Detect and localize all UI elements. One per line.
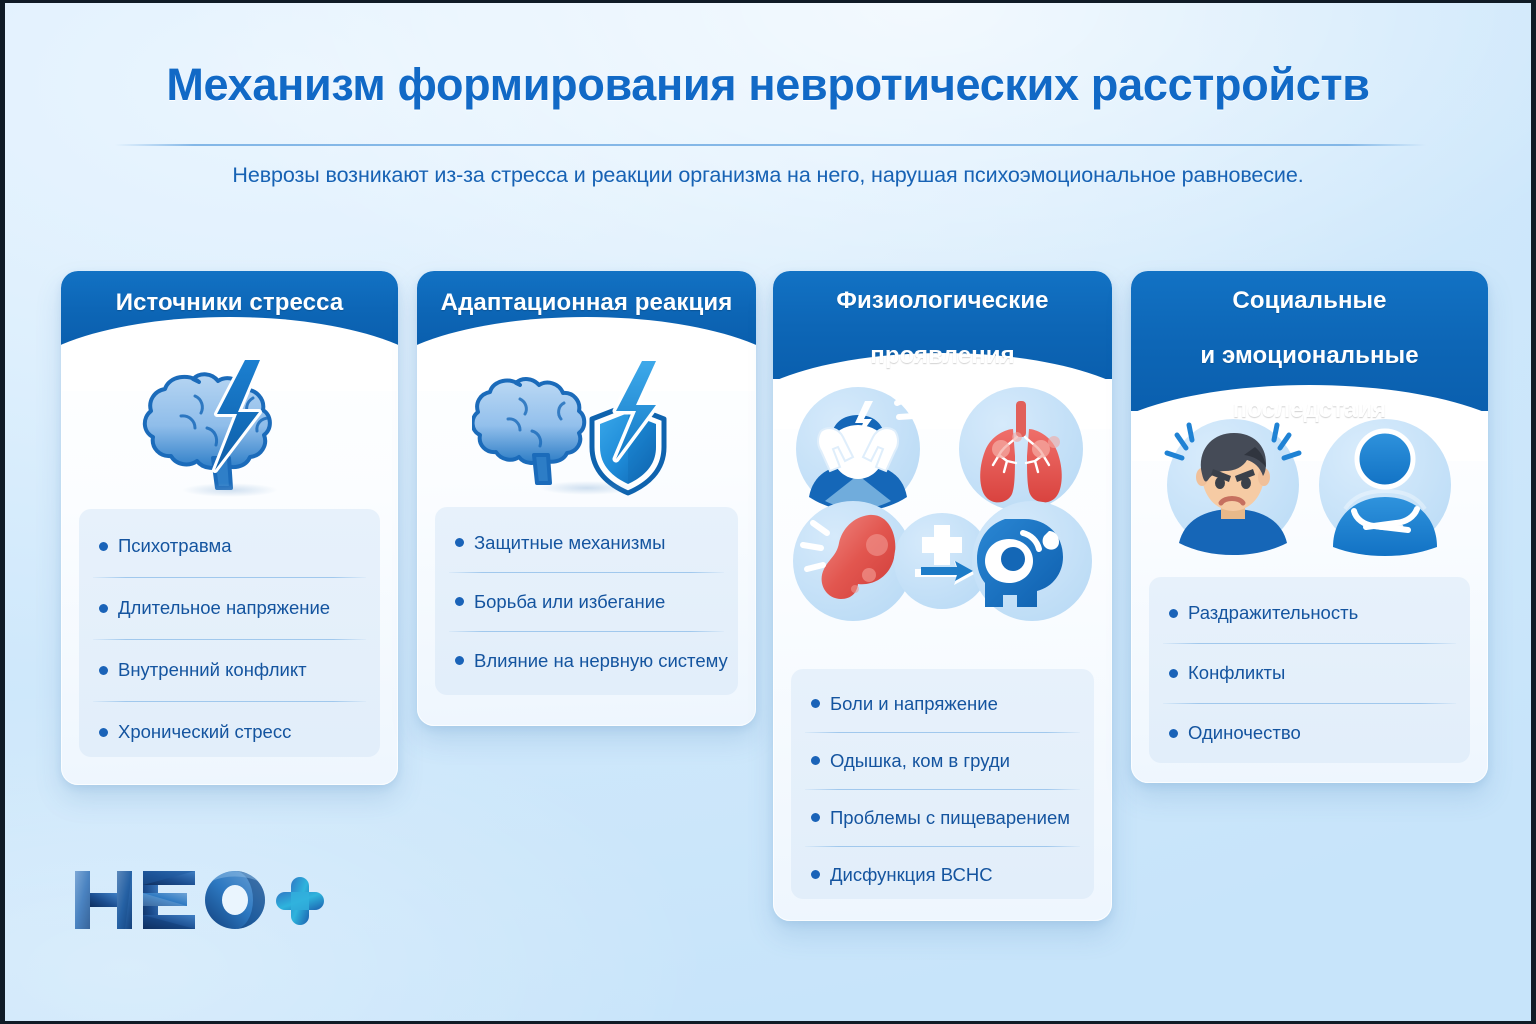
list-item-label: Одышка, ком в груди (830, 750, 1010, 772)
bullet-dot-icon (99, 604, 108, 613)
list-item[interactable]: Хронический стресс (85, 701, 374, 763)
card-stress-sources-list: Психотравма Длительное напряжение Внутре… (79, 509, 380, 757)
brain-shield-lightning-icon (417, 345, 756, 503)
neo-plus-logo[interactable] (73, 861, 333, 939)
lonely-person-icon (1319, 419, 1451, 556)
bullet-dot-icon (1169, 729, 1178, 738)
list-item[interactable]: Конфликты (1155, 643, 1464, 703)
list-item-label: Конфликты (1188, 662, 1285, 684)
bullet-dot-icon (455, 538, 464, 547)
social-icon-group (1131, 413, 1488, 557)
list-item[interactable]: Длительное напряжение (85, 577, 374, 639)
card-stress-sources-header: Источники стресса (61, 271, 398, 345)
card-stress-sources-title: Источники стресса (116, 289, 344, 316)
list-item[interactable]: Одышка, ком в груди (797, 732, 1088, 789)
logo-letter-n (75, 871, 132, 929)
list-item-label: Раздражительность (1188, 602, 1358, 624)
bullet-dot-icon (811, 699, 820, 708)
title-divider (115, 144, 1426, 146)
infographic-canvas: Механизм формирования невротических расс… (0, 0, 1536, 1024)
list-item-label: Боли и напряжение (830, 693, 998, 715)
bullet-dot-icon (811, 813, 820, 822)
list-item[interactable]: Внутренний конфликт (85, 639, 374, 701)
logo-letter-e (143, 871, 195, 929)
title-line-3: последстаия (1200, 396, 1418, 423)
icon-shadow (182, 483, 278, 497)
list-item-label: Длительное напряжение (118, 597, 330, 619)
card-adaptive-response-title: Адаптационная реакция (441, 289, 733, 316)
physiological-icon-grid (773, 379, 1112, 627)
list-item-label: Одиночество (1188, 722, 1301, 744)
bullet-dot-icon (455, 656, 464, 665)
card-adaptive-response-header: Адаптационная реакция (417, 271, 756, 345)
list-item-label: Защитные механизмы (474, 532, 665, 554)
list-item[interactable]: Проблемы с пищеварением (797, 789, 1088, 846)
title-line-1: Физиологические (836, 287, 1048, 314)
list-item[interactable]: Защитные механизмы (441, 513, 732, 572)
card-social-emotional-consequences-title: Социальные и эмоциональные последстаия (1200, 287, 1418, 424)
icon-shadow (539, 481, 635, 495)
card-adaptive-response[interactable]: Адаптационная реакция (417, 271, 756, 726)
logo-plus-icon (276, 877, 324, 925)
list-item[interactable]: Боли и напряжение (797, 675, 1088, 732)
card-physiological-manifestations-title: Физиологические проявления (836, 287, 1048, 369)
bullet-dot-icon (99, 728, 108, 737)
logo-letter-o (205, 871, 265, 929)
bullet-dot-icon (1169, 669, 1178, 678)
headache-person-icon (796, 387, 920, 511)
lungs-icon (959, 387, 1083, 511)
card-physiological-manifestations-list: Боли и напряжение Одышка, ком в груди Пр… (791, 669, 1094, 899)
bullet-dot-icon (99, 542, 108, 551)
title-line-1: Социальные (1200, 287, 1418, 314)
list-item[interactable]: Одиночество (1155, 703, 1464, 763)
list-item[interactable]: Дисфункция ВСНС (797, 846, 1088, 903)
bullet-dot-icon (455, 597, 464, 606)
list-item[interactable]: Раздражительность (1155, 583, 1464, 643)
list-item-label: Влияние на нервную систему (474, 650, 728, 672)
brain-lightning-icon (61, 345, 398, 505)
card-social-emotional-consequences[interactable]: Социальные и эмоциональные последстаия (1131, 271, 1488, 783)
title-line-2: проявления (836, 342, 1048, 369)
card-stress-sources[interactable]: Источники стресса (61, 271, 398, 785)
card-adaptive-response-list: Защитные механизмы Борьба или избегание … (435, 507, 738, 695)
page-title: Механизм формирования невротических расс… (5, 59, 1531, 111)
card-physiological-manifestations-header: Физиологические проявления (773, 271, 1112, 379)
list-item-label: Внутренний конфликт (118, 659, 307, 681)
card-physiological-manifestations[interactable]: Физиологические проявления (773, 271, 1112, 921)
list-item-label: Дисфункция ВСНС (830, 864, 993, 886)
list-item[interactable]: Влияние на нервную систему (441, 631, 732, 690)
bullet-dot-icon (99, 666, 108, 675)
list-item-label: Борьба или избегание (474, 591, 665, 613)
list-item[interactable]: Психотравма (85, 515, 374, 577)
bullet-dot-icon (1169, 609, 1178, 618)
card-social-emotional-consequences-header: Социальные и эмоциональные последстаия (1131, 271, 1488, 411)
bullet-dot-icon (811, 756, 820, 765)
card-social-emotional-consequences-list: Раздражительность Конфликты Одиночество (1149, 577, 1470, 763)
page-subtitle: Неврозы возникают из-за стресса и реакци… (5, 163, 1531, 188)
list-item[interactable]: Борьба или избегание (441, 572, 732, 631)
angry-person-icon (1167, 419, 1299, 555)
list-item-label: Проблемы с пищеварением (830, 807, 1070, 829)
bullet-dot-icon (811, 870, 820, 879)
head-eye-icon (972, 501, 1092, 621)
list-item-label: Хронический стресс (118, 721, 291, 743)
title-line-2: и эмоциональные (1200, 342, 1418, 369)
list-item-label: Психотравма (118, 535, 231, 557)
